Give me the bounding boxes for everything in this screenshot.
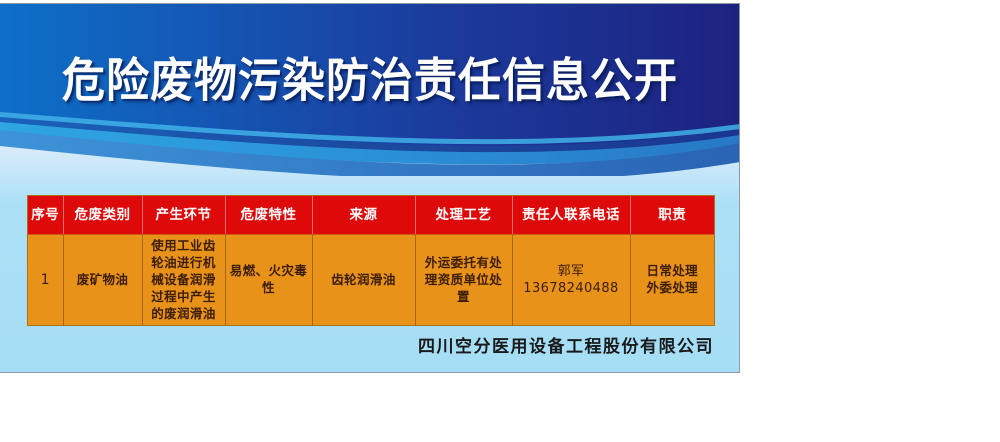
responsible-person-name: 郭军	[517, 263, 626, 281]
duty-line-2: 外委处理	[635, 280, 711, 297]
column-header-duty: 职责	[630, 196, 714, 235]
cell-process: 外运委托有处理资质单位处置	[415, 235, 512, 326]
cell-source: 齿轮润滑油	[312, 235, 415, 326]
poster-banner: 危险废物污染防治责任信息公开	[0, 4, 740, 176]
table-row: 1 废矿物油 使用工业齿轮油进行机械设备润滑过程中产生的废润滑油 易燃、火灾毒性…	[28, 235, 714, 326]
banner-wave-graphic	[0, 4, 740, 176]
responsible-person-phone: 13678240488	[517, 280, 626, 298]
cell-duty: 日常处理 外委处理	[630, 235, 714, 326]
column-header-contact: 责任人联系电话	[512, 196, 630, 235]
column-header-seq: 序号	[28, 196, 63, 235]
duty-line-1: 日常处理	[635, 263, 711, 280]
column-header-process: 处理工艺	[415, 196, 512, 235]
column-header-source: 来源	[312, 196, 415, 235]
cell-category: 废矿物油	[63, 235, 142, 326]
cell-seq: 1	[28, 235, 63, 326]
hazardous-waste-table: 序号 危废类别 产生环节 危废特性 来源 处理工艺 责任人联系电话 职责 1 废…	[28, 196, 714, 325]
column-header-category: 危废类别	[63, 196, 142, 235]
cell-contact: 郭军 13678240488	[512, 235, 630, 326]
column-header-property: 危废特性	[225, 196, 312, 235]
column-header-stage: 产生环节	[142, 196, 225, 235]
cell-property: 易燃、火灾毒性	[225, 235, 312, 326]
cell-stage: 使用工业齿轮油进行机械设备润滑过程中产生的废润滑油	[142, 235, 225, 326]
table-header-row: 序号 危废类别 产生环节 危废特性 来源 处理工艺 责任人联系电话 职责	[28, 196, 714, 235]
information-disclosure-poster: 危险废物污染防治责任信息公开 序号 危废类别 产生环节 危废特性 来源 处理工艺…	[0, 3, 740, 373]
company-name: 四川空分医用设备工程股份有限公司	[0, 332, 714, 357]
